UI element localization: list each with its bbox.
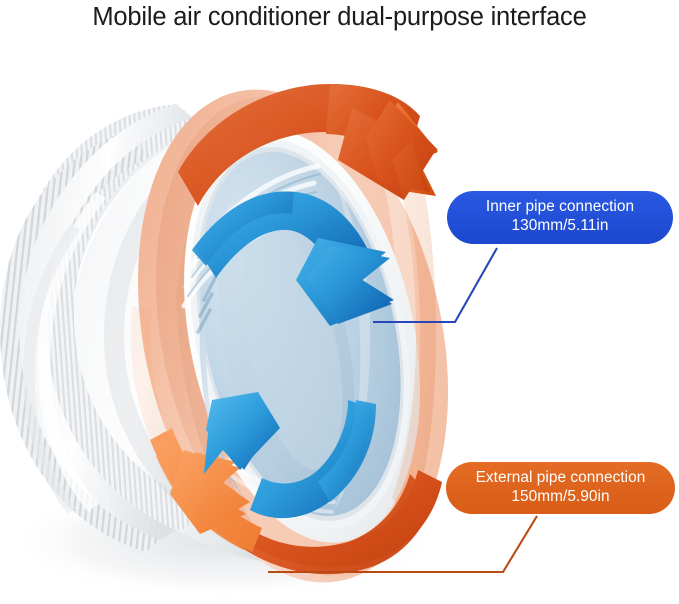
product-diagram-canvas: Mobile air conditioner dual-purpose inte… [0,0,679,604]
callout-inner-pipe-connection[interactable]: Inner pipe connection 130mm/5.11in [447,191,673,244]
callout-external-pipe-connection[interactable]: External pipe connection 150mm/5.90in [446,462,675,514]
callout-external-line1: External pipe connection [476,469,646,486]
callout-inner-line2: 130mm/5.11in [447,216,673,235]
callout-inner-line1: Inner pipe connection [486,198,634,215]
callout-external-line2: 150mm/5.90in [446,487,675,506]
